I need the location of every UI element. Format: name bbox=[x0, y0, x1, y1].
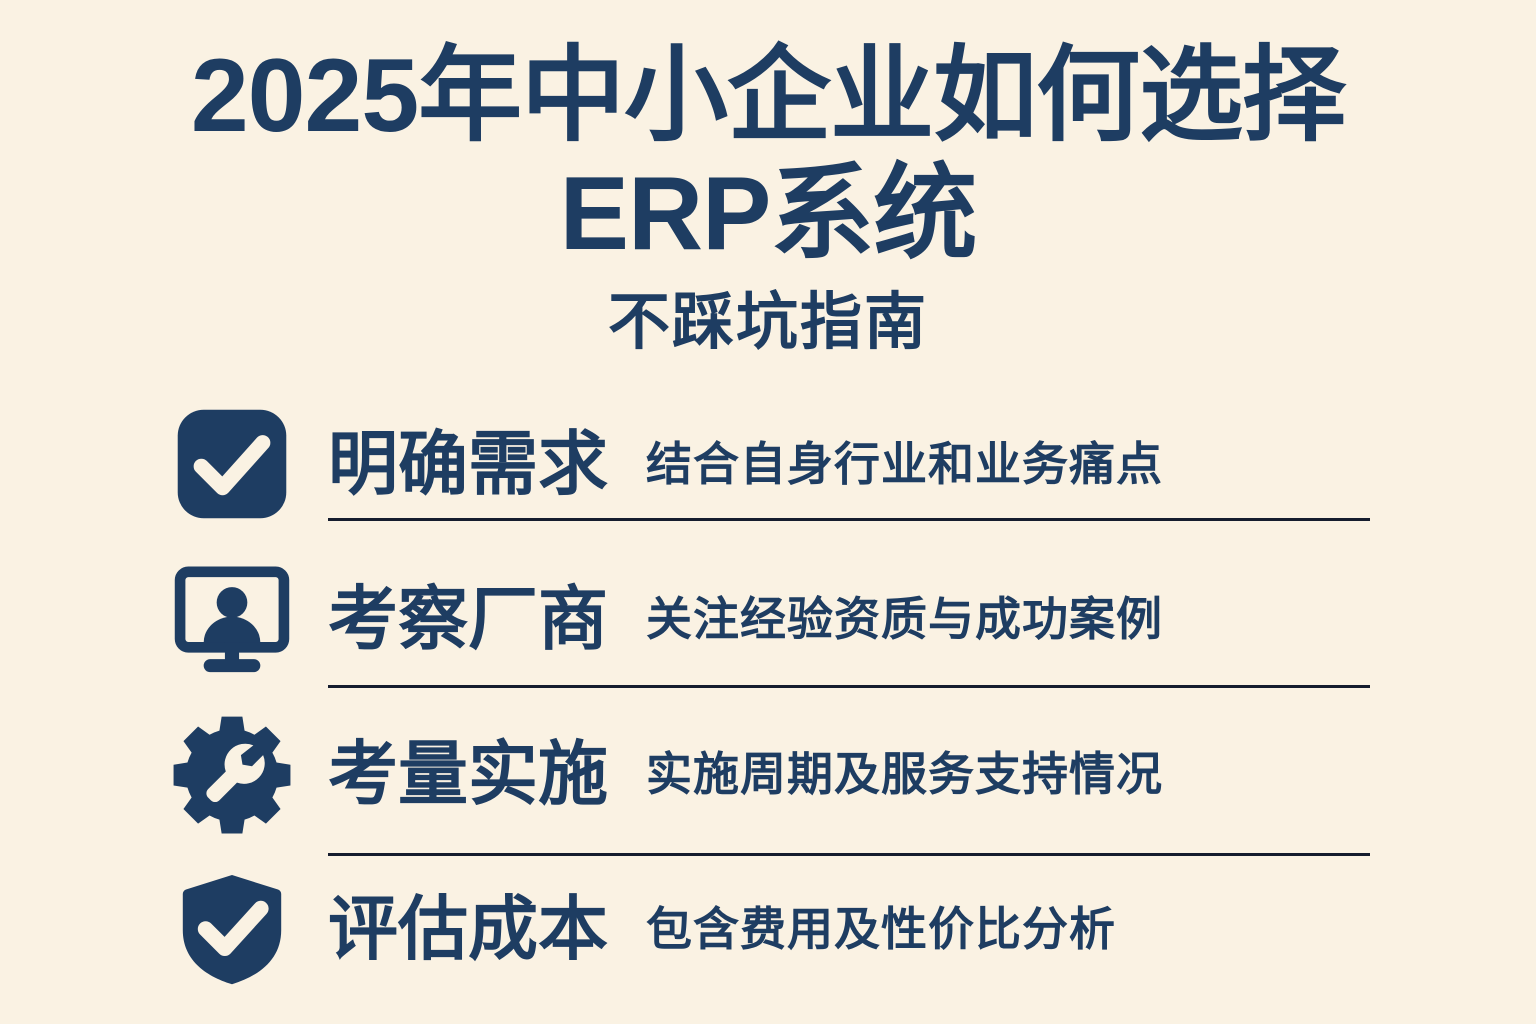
shield-check-icon bbox=[168, 865, 296, 993]
page-subtitle: 不踩坑指南 bbox=[0, 292, 1536, 354]
gear-wrench-icon bbox=[168, 710, 296, 838]
list-item-heading: 考量实施 bbox=[328, 739, 608, 809]
list-item-description: 实施周期及服务支持情况 bbox=[646, 751, 1163, 797]
list-item-heading: 考察厂商 bbox=[328, 584, 608, 654]
list-item: 考量实施 实施周期及服务支持情况 bbox=[0, 696, 1536, 851]
checklist: 明确需求 结合自身行业和业务痛点 考察厂商 关注经验资质与成功案例 bbox=[0, 386, 1536, 1006]
row-divider bbox=[328, 685, 1370, 688]
list-item-heading: 明确需求 bbox=[328, 429, 608, 499]
list-item-description: 结合自身行业和业务痛点 bbox=[646, 441, 1163, 487]
monitor-person-icon bbox=[168, 555, 296, 683]
page-title-line-1: 2025年中小企业如何选择 bbox=[0, 44, 1536, 148]
poster-header: 2025年中小企业如何选择 ERP系统 不踩坑指南 bbox=[0, 0, 1536, 354]
infographic-poster: 2025年中小企业如何选择 ERP系统 不踩坑指南 明确需求 结合自身行业和业务… bbox=[0, 0, 1536, 1024]
list-item: 评估成本 包含费用及性价比分析 bbox=[0, 851, 1536, 1006]
list-item: 考察厂商 关注经验资质与成功案例 bbox=[0, 541, 1536, 696]
row-divider bbox=[328, 853, 1370, 856]
check-square-icon bbox=[168, 400, 296, 528]
list-item-heading: 评估成本 bbox=[328, 894, 608, 964]
list-item-description: 关注经验资质与成功案例 bbox=[646, 596, 1163, 642]
list-item-description: 包含费用及性价比分析 bbox=[646, 906, 1116, 952]
page-title-line-2: ERP系统 bbox=[0, 162, 1536, 266]
row-divider bbox=[328, 518, 1370, 521]
